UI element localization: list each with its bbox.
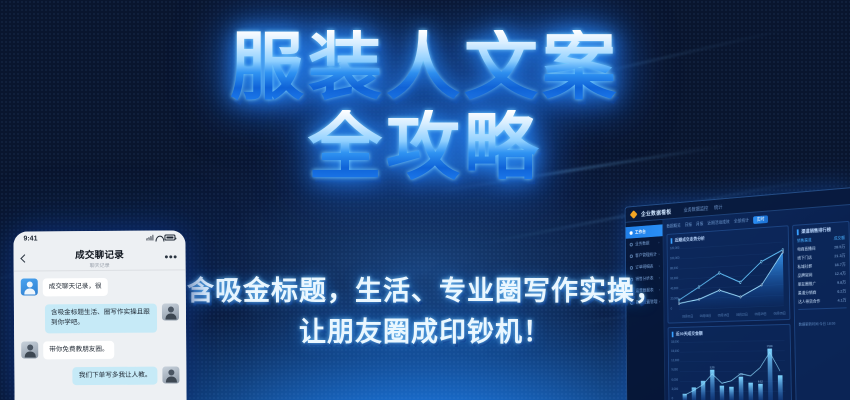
bullet-icon [630, 231, 633, 235]
headline-group: 服装人文案 全攻略 [0, 30, 850, 184]
bullet-icon [630, 242, 633, 246]
rank-value: 9.8万 [837, 280, 846, 286]
rank-key: 线下门店 [797, 255, 812, 262]
rank-row-head: 销售渠道 成交额 [797, 235, 845, 244]
y-tick: 3,000 [672, 387, 682, 391]
rank-value: 21.3万 [834, 253, 845, 260]
chevron-right-icon: › [659, 275, 660, 280]
sidebar-item-label: 系统设置管理 [636, 299, 658, 305]
y-tick: 6,000 [671, 377, 681, 381]
line-chart-svg [671, 239, 786, 318]
bar-chart-title: 近30天成交金额 [676, 331, 703, 337]
chat-message-row: 带你免费教朋友圈。 [21, 340, 179, 359]
dashboard-sidebar: 工作台 业务数据 › 客户管理统计 › 订单明细表 › [626, 220, 666, 400]
rank-key: 渠道分销商 [798, 290, 816, 297]
rank-value: 6.2万 [837, 288, 846, 294]
y-tick: 0 [672, 396, 682, 400]
chevron-right-icon: › [658, 240, 659, 245]
avatar [21, 278, 38, 295]
sidebar-item-label: 工作台 [635, 229, 646, 235]
rank-value: 18.7万 [834, 262, 845, 269]
rank-key: 电商直播间 [797, 246, 815, 253]
phone-mockup: 9:41 成交聊记录 聊天记录 ••• 成交聊天记录，很 含吸金标题生活、圈写作… [13, 230, 186, 400]
y-tick: 18,000 [671, 339, 681, 343]
tab-daily[interactable]: 日报 [685, 222, 692, 228]
rank-row: 品牌官网 12.4万 [798, 271, 846, 279]
y-tick: 9,000 [671, 368, 681, 372]
y-tick: 0 [671, 306, 681, 310]
avatar [162, 304, 179, 321]
chat-message-list: 成交聊天记录，很 含吸金标题生活、圈写作实操且跟到你学吧。 带你免费教朋友圈。 … [14, 270, 187, 400]
tab-realtime-active[interactable]: 实时 [753, 215, 768, 224]
chat-title: 成交聊记录 [75, 246, 124, 260]
y-tick: 120,000 [670, 246, 680, 250]
sidebar-item-label: 销售分析表 [635, 275, 653, 281]
y-tick: 12,000 [671, 358, 681, 362]
rank-key: 销售渠道 [797, 237, 812, 244]
accent-bar-icon [797, 229, 799, 235]
line-chart-card: 近期成交走势分析 120,000 100,000 80,000 60,000 4… [667, 225, 791, 323]
svg-text:17,933: 17,933 [767, 344, 773, 348]
dashboard-title: 企业数据看板 [641, 207, 671, 218]
y-tick: 40,000 [670, 286, 680, 290]
rank-key: 私域社群 [797, 263, 812, 270]
y-tick: 80,000 [670, 266, 680, 270]
svg-text:7,126: 7,126 [738, 373, 743, 377]
chat-bubble: 含吸金标题生活、圈写作实操且跟到你学吧。 [45, 304, 157, 333]
chat-message-row: 成交聊天记录，很 [21, 277, 179, 296]
x-tick: 05月15日 [718, 312, 730, 317]
dashboard-header-nav: 业务数据监控 统计 [684, 203, 723, 213]
rank-panel-header: 渠道销售排行榜 [797, 226, 845, 235]
light-ray-icon [504, 26, 797, 95]
chevron-right-icon: › [659, 264, 660, 269]
chevron-left-icon[interactable] [20, 254, 28, 262]
dashboard-charts-column: 近期成交走势分析 120,000 100,000 80,000 60,000 4… [667, 225, 793, 400]
x-tick: 05月08日 [700, 313, 711, 318]
rank-key: 品牌官网 [798, 272, 813, 279]
avatar [162, 366, 179, 383]
sidebar-item-label: 运营数据表 [636, 287, 654, 293]
x-tick: 05月22日 [736, 311, 748, 316]
rank-row: 私域社群 18.7万 [797, 262, 845, 270]
x-tick: 06月05日 [774, 310, 786, 315]
rank-value: 28.5万 [834, 244, 845, 251]
rank-panel-title: 渠道销售排行榜 [801, 227, 831, 235]
rank-row: 线下门店 21.3万 [797, 253, 845, 262]
dashboard-mockup: 企业数据看板 业务数据监控 统计 工作台 业务数据 › 客户管理统计 [625, 187, 850, 400]
poster-canvas: 企业数据看板 业务数据监控 统计 工作台 业务数据 › 客户管理统计 [0, 0, 850, 400]
dashboard-nav-item[interactable]: 统计 [714, 203, 723, 210]
tab-overview[interactable]: 数据概览 [666, 223, 680, 230]
chat-bubble: 成交聊天记录，很 [43, 278, 108, 297]
bar-chart-card: 近30天成交金额 18,000 15,000 12,000 9,000 6,00… [668, 323, 793, 400]
y-tick: 100,000 [670, 256, 680, 260]
diamond-logo-icon [630, 210, 638, 219]
line-chart-y-axis: 120,000 100,000 80,000 60,000 40,000 20,… [670, 246, 680, 310]
svg-text:5,378: 5,378 [710, 366, 715, 370]
tab-monthly[interactable]: 月报 [696, 221, 703, 227]
rank-panel-footer: 数据更新时间 今日 18:00 [798, 307, 847, 330]
rank-key: 朋友圈推广 [798, 281, 816, 288]
chevron-right-icon: › [659, 252, 660, 257]
dashboard-mid: 近期成交走势分析 120,000 100,000 80,000 60,000 4… [667, 221, 850, 400]
chat-bubble: 我们下单写多我让人教。 [73, 366, 158, 385]
bullet-icon [630, 254, 633, 258]
status-icons [146, 234, 175, 240]
accent-bar-icon [672, 331, 674, 337]
line-chart-title: 近期成交走势分析 [675, 236, 705, 244]
rank-key: 达人带货合作 [798, 298, 820, 305]
light-ray-icon [432, 145, 729, 194]
chevron-right-icon: › [659, 299, 660, 304]
bar-chart-plot: 18,000 15,000 12,000 9,000 6,000 3,000 0 [672, 337, 788, 400]
sidebar-item-label: 业务数据 [635, 240, 649, 246]
y-tick: 20,000 [671, 296, 681, 300]
bullet-icon [630, 289, 633, 293]
accent-bar-icon [671, 238, 673, 244]
rank-list: 销售渠道 成交额 电商直播间 28.5万 线下门店 21.3万 [797, 235, 847, 305]
sidebar-item-label: 客户管理统计 [635, 252, 657, 259]
chat-bubble: 带你免费教朋友圈。 [43, 341, 114, 360]
line-chart-plot: 120,000 100,000 80,000 60,000 40,000 20,… [671, 239, 786, 318]
rank-row: 渠道分销商 6.2万 [798, 288, 846, 296]
dashboard-body: 工作台 业务数据 › 客户管理统计 › 订单明细表 › [626, 205, 850, 400]
sidebar-item-label: 订单明细表 [635, 264, 653, 270]
y-tick: 15,000 [671, 349, 681, 353]
status-time: 9:41 [23, 235, 37, 242]
chevron-right-icon: › [659, 287, 660, 292]
page-title-line-2: 全攻略 [0, 110, 850, 184]
y-tick: 60,000 [670, 276, 680, 280]
bullet-icon [630, 301, 633, 305]
sidebar-item-settings[interactable]: 系统设置管理 › [626, 295, 663, 308]
chat-subtitle: 聊天记录 [75, 261, 124, 268]
signal-bars-icon [146, 235, 153, 241]
rank-row: 朋友圈推广 9.8万 [798, 280, 846, 288]
rank-row: 达人带货合作 4.1万 [798, 297, 846, 305]
phone-nav-bar: 成交聊记录 聊天记录 ••• [13, 244, 185, 271]
bar-chart-header: 近30天成交金额 [672, 328, 786, 336]
page-title-line-1: 服装人文案 [0, 30, 850, 104]
tab-all[interactable]: 全部统计 [734, 218, 749, 225]
bullet-icon [630, 266, 633, 270]
bullet-icon [630, 277, 633, 281]
dashboard-nav-item[interactable]: 业务数据监控 [684, 205, 709, 213]
bar-chart-svg: 5,3787,1268,61217,933 [672, 337, 788, 400]
rank-value: 成交额 [834, 235, 845, 242]
chat-message-row: 我们下单写多我让人教。 [21, 366, 179, 385]
chat-message-row: 含吸金标题生活、圈写作实操且跟到你学吧。 [21, 304, 179, 334]
rank-panel-card: 渠道销售排行榜 销售渠道 成交额 电商直播间 28.5万 [792, 221, 850, 400]
phone-status-bar: 9:41 [13, 230, 185, 245]
rank-value: 12.4万 [835, 271, 846, 277]
bar-chart-y-axis: 18,000 15,000 12,000 9,000 6,000 3,000 0 [671, 339, 681, 400]
x-tick: 05月29日 [755, 311, 767, 316]
tab-recent[interactable]: 近期活动成效 [707, 219, 729, 226]
avatar [21, 341, 38, 358]
svg-text:8,612: 8,612 [758, 380, 763, 384]
dashboard-main: 数据概览 日报 月报 近期活动成效 全部统计 实时 近期成交走势分析 [663, 205, 850, 400]
rank-row: 电商直播间 28.5万 [797, 244, 845, 253]
wifi-icon [155, 235, 162, 241]
x-tick: 05月01日 [682, 313, 693, 318]
battery-icon [164, 235, 175, 241]
phone-title-wrap: 成交聊记录 聊天记录 [75, 246, 124, 268]
rank-footer-text: 数据更新时间 今日 18:00 [799, 322, 836, 327]
rank-value: 4.1万 [837, 297, 846, 303]
